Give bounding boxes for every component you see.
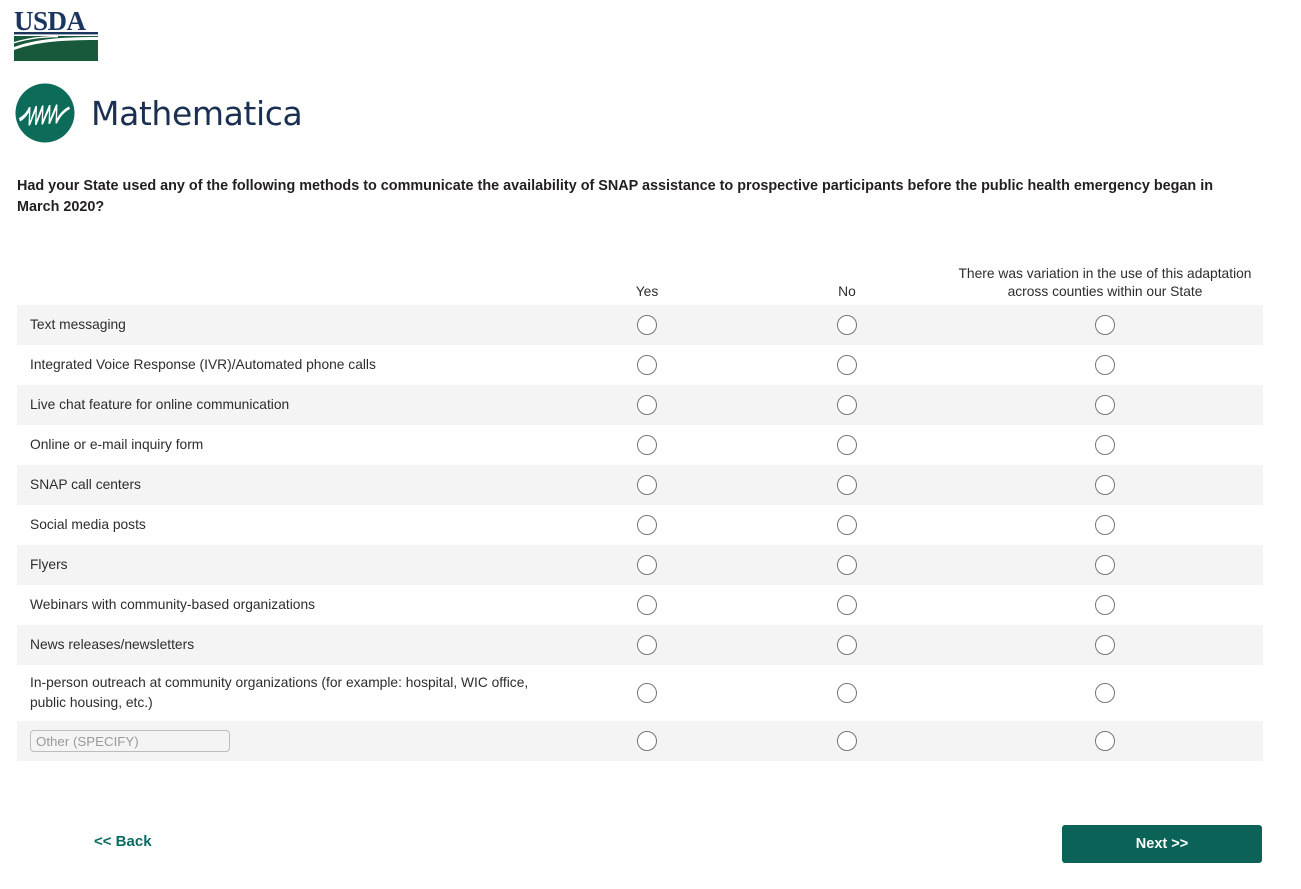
radio-cell-yes[interactable]: [547, 315, 747, 335]
grid-body: Text messagingIntegrated Voice Response …: [17, 305, 1263, 761]
radio-variation[interactable]: [1095, 731, 1115, 751]
table-row: SNAP call centers: [17, 465, 1263, 505]
radio-cell-yes[interactable]: [547, 731, 747, 751]
radio-no[interactable]: [837, 555, 857, 575]
row-label: Live chat feature for online communicati…: [17, 395, 547, 415]
row-label: Integrated Voice Response (IVR)/Automate…: [17, 355, 547, 375]
radio-no[interactable]: [837, 355, 857, 375]
radio-cell-no[interactable]: [747, 635, 947, 655]
radio-no[interactable]: [837, 731, 857, 751]
radio-yes[interactable]: [637, 395, 657, 415]
grid-header-row: Yes No There was variation in the use of…: [17, 248, 1263, 305]
table-row: [17, 721, 1263, 761]
radio-cell-variation[interactable]: [947, 515, 1263, 535]
mathematica-m-icon: [14, 82, 76, 144]
radio-no[interactable]: [837, 315, 857, 335]
usda-logo: USDA: [14, 6, 98, 62]
grid-header-no-label: No: [838, 283, 856, 305]
radio-cell-variation[interactable]: [947, 595, 1263, 615]
table-row: Online or e-mail inquiry form: [17, 425, 1263, 465]
radio-cell-variation[interactable]: [947, 355, 1263, 375]
radio-variation[interactable]: [1095, 435, 1115, 455]
radio-cell-yes[interactable]: [547, 355, 747, 375]
table-row: Webinars with community-based organizati…: [17, 585, 1263, 625]
radio-cell-yes[interactable]: [547, 635, 747, 655]
grid-header-no: No: [747, 283, 947, 305]
radio-variation[interactable]: [1095, 683, 1115, 703]
grid-header-yes-label: Yes: [636, 283, 659, 305]
radio-no[interactable]: [837, 635, 857, 655]
table-row: Flyers: [17, 545, 1263, 585]
radio-cell-no[interactable]: [747, 595, 947, 615]
row-label: Flyers: [17, 555, 547, 575]
radio-variation[interactable]: [1095, 515, 1115, 535]
back-button[interactable]: << Back: [94, 833, 152, 850]
radio-cell-no[interactable]: [747, 731, 947, 751]
radio-no[interactable]: [837, 595, 857, 615]
usda-logo-icon: USDA: [14, 6, 98, 62]
radio-variation[interactable]: [1095, 555, 1115, 575]
radio-variation[interactable]: [1095, 355, 1115, 375]
radio-no[interactable]: [837, 435, 857, 455]
radio-yes[interactable]: [637, 555, 657, 575]
radio-yes[interactable]: [637, 731, 657, 751]
radio-cell-no[interactable]: [747, 355, 947, 375]
radio-yes[interactable]: [637, 355, 657, 375]
table-row: In-person outreach at community organiza…: [17, 665, 1263, 721]
row-label: In-person outreach at community organiza…: [17, 673, 547, 713]
radio-yes[interactable]: [637, 515, 657, 535]
radio-no[interactable]: [837, 515, 857, 535]
radio-variation[interactable]: [1095, 395, 1115, 415]
radio-yes[interactable]: [637, 683, 657, 703]
radio-cell-variation[interactable]: [947, 683, 1263, 703]
radio-cell-variation[interactable]: [947, 435, 1263, 455]
next-button[interactable]: Next >>: [1062, 825, 1262, 863]
radio-cell-yes[interactable]: [547, 683, 747, 703]
radio-cell-variation[interactable]: [947, 555, 1263, 575]
radio-cell-no[interactable]: [747, 683, 947, 703]
radio-variation[interactable]: [1095, 595, 1115, 615]
branding-header: USDA Mathematica: [0, 0, 1301, 150]
radio-cell-no[interactable]: [747, 515, 947, 535]
radio-cell-variation[interactable]: [947, 475, 1263, 495]
radio-yes[interactable]: [637, 635, 657, 655]
radio-cell-no[interactable]: [747, 395, 947, 415]
row-label: Text messaging: [17, 315, 547, 335]
radio-cell-no[interactable]: [747, 315, 947, 335]
other-specify-input[interactable]: [30, 730, 230, 752]
radio-variation[interactable]: [1095, 475, 1115, 495]
radio-cell-variation[interactable]: [947, 731, 1263, 751]
radio-yes[interactable]: [637, 435, 657, 455]
response-grid: Yes No There was variation in the use of…: [17, 248, 1263, 761]
mathematica-logo: Mathematica: [14, 82, 304, 144]
radio-cell-yes[interactable]: [547, 595, 747, 615]
radio-cell-variation[interactable]: [947, 315, 1263, 335]
radio-variation[interactable]: [1095, 315, 1115, 335]
table-row: News releases/newsletters: [17, 625, 1263, 665]
other-specify-cell[interactable]: [17, 730, 547, 752]
table-row: Text messaging: [17, 305, 1263, 345]
radio-no[interactable]: [837, 395, 857, 415]
svg-text:USDA: USDA: [14, 6, 87, 36]
table-row: Integrated Voice Response (IVR)/Automate…: [17, 345, 1263, 385]
radio-cell-yes[interactable]: [547, 515, 747, 535]
question-text: Had your State used any of the following…: [17, 176, 1243, 218]
radio-yes[interactable]: [637, 475, 657, 495]
radio-cell-variation[interactable]: [947, 395, 1263, 415]
grid-header-variation-label: There was variation in the use of this a…: [947, 265, 1263, 305]
radio-no[interactable]: [837, 475, 857, 495]
mathematica-wordmark: Mathematica: [91, 97, 302, 130]
radio-cell-no[interactable]: [747, 555, 947, 575]
radio-cell-yes[interactable]: [547, 435, 747, 455]
radio-no[interactable]: [837, 683, 857, 703]
radio-cell-variation[interactable]: [947, 635, 1263, 655]
radio-cell-yes[interactable]: [547, 475, 747, 495]
row-label: Webinars with community-based organizati…: [17, 595, 547, 615]
row-label: Online or e-mail inquiry form: [17, 435, 547, 455]
radio-yes[interactable]: [637, 315, 657, 335]
table-row: Live chat feature for online communicati…: [17, 385, 1263, 425]
row-label: Social media posts: [17, 515, 547, 535]
row-label: SNAP call centers: [17, 475, 547, 495]
table-row: Social media posts: [17, 505, 1263, 545]
row-label: News releases/newsletters: [17, 635, 547, 655]
radio-yes[interactable]: [637, 595, 657, 615]
radio-variation[interactable]: [1095, 635, 1115, 655]
radio-cell-no[interactable]: [747, 435, 947, 455]
radio-cell-no[interactable]: [747, 475, 947, 495]
grid-header-yes: Yes: [547, 283, 747, 305]
radio-cell-yes[interactable]: [547, 395, 747, 415]
radio-cell-yes[interactable]: [547, 555, 747, 575]
grid-header-variation: There was variation in the use of this a…: [947, 265, 1263, 305]
